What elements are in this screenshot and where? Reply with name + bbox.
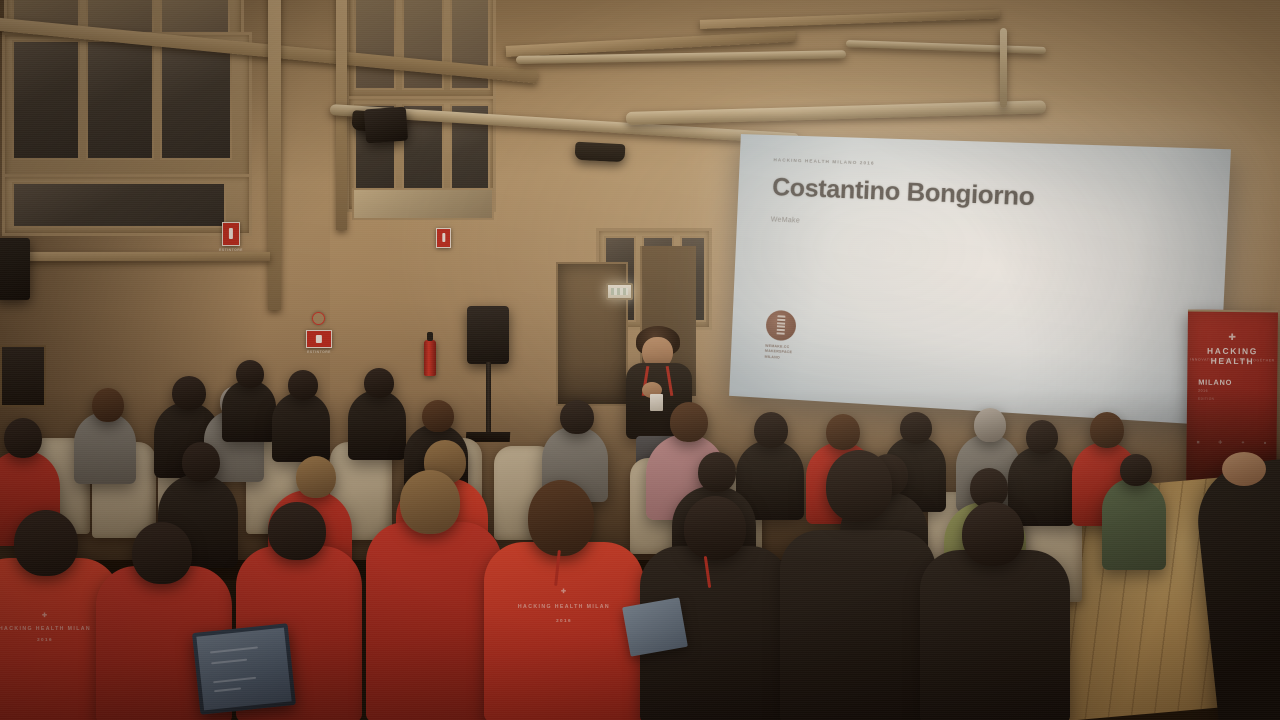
tablet-device[interactable] [192,623,296,715]
audience-head [400,470,460,534]
audience-head [236,360,264,388]
audience-head [826,414,860,450]
audience-member [1102,478,1166,570]
pipe-drop [1000,28,1007,108]
audience-head [670,402,708,442]
audience-head [560,400,594,434]
audience-head [268,502,326,560]
tablet-screen [196,628,291,711]
audience-member [272,392,330,462]
vertical-column [268,0,281,310]
exit-emergency-sign [606,283,633,300]
fire-extinguisher-sign-lower [306,330,332,348]
audience-head [422,400,454,432]
tshirt-cross-icon: ✚ [484,588,644,595]
audience-head [962,502,1024,566]
laptop-device[interactable] [622,597,688,656]
audience-head [974,408,1006,442]
audience-member [780,530,936,720]
fire-extinguisher-sign-mid [436,228,451,248]
audience-head [698,452,736,492]
audience-head [1120,454,1152,486]
audience-head [296,456,336,498]
audience-member [74,412,136,484]
audience-member [222,380,276,442]
audience-head [92,388,124,422]
audience-head [364,368,394,398]
tshirt-text: HACKING HEALTH MILAN [484,604,644,610]
audience-member-volunteer [366,522,502,720]
wall-ledge [0,252,270,261]
fire-extinguisher-sign-upper [222,222,240,246]
audience-head [172,376,206,410]
audience: ✚ HACKING HEALTH MILAN 2016 ✚ HACKING HE… [0,350,1280,720]
audience-head [132,522,192,584]
audience-head [288,370,318,400]
ceiling-heater-right [575,142,626,163]
no-smoking-icon [312,312,325,325]
audience-member-volunteer [484,542,644,720]
audience-head [1026,420,1058,454]
audience-member [920,550,1070,720]
fire-extinguisher-sign-upper-label: ESTINTORE [214,248,248,252]
audience-head [900,412,932,444]
conference-room-photo: ESTINTORE ESTINTORE HACKING HEALTH MILAN… [0,0,1280,720]
wall-mounted-monitor [0,238,30,300]
audience-head [826,450,892,522]
tshirt-year: 2016 [484,618,644,623]
audience-member [348,390,406,460]
audience-head [4,418,42,458]
audience-head [182,442,220,482]
audience-head [684,496,746,560]
audience-head [1090,412,1124,448]
audience-head [14,510,78,576]
foreground-person-right-hand [1222,452,1266,486]
audience-head [528,480,594,556]
audience-head [754,412,788,448]
